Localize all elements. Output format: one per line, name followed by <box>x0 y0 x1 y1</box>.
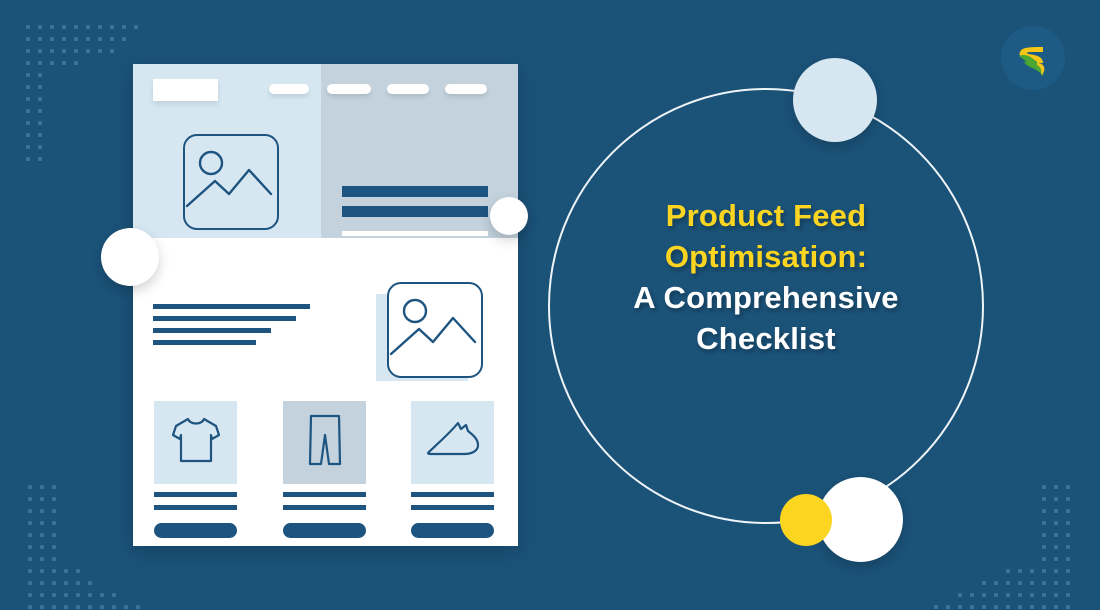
decor-dot <box>1042 521 1046 525</box>
decor-dot <box>40 593 44 597</box>
decor-dot <box>100 593 104 597</box>
decor-dot <box>76 593 80 597</box>
decor-dot <box>52 593 56 597</box>
product-image-tile <box>411 401 494 484</box>
decor-dot <box>88 593 92 597</box>
decor-dot <box>28 581 32 585</box>
decor-dot <box>74 61 78 65</box>
title-line-1: Product Feed <box>566 196 966 237</box>
decor-dot <box>76 605 80 609</box>
decor-dot <box>40 545 44 549</box>
product-image-tile <box>283 401 366 484</box>
decor-dot <box>112 593 116 597</box>
decor-circle-right <box>490 197 528 235</box>
decor-dot <box>50 25 54 29</box>
decor-dot <box>1066 485 1070 489</box>
decor-dot <box>994 605 998 609</box>
decor-dot <box>110 25 114 29</box>
nav-item-4[interactable] <box>445 84 487 94</box>
product-text-line-1 <box>411 492 494 497</box>
decor-dot <box>26 73 30 77</box>
decor-dot <box>1054 569 1058 573</box>
decor-dot <box>38 109 42 113</box>
decor-dot <box>52 521 56 525</box>
decor-dot <box>26 157 30 161</box>
decor-dot <box>50 37 54 41</box>
decor-dot <box>26 49 30 53</box>
decor-dot <box>1042 497 1046 501</box>
decor-dot <box>40 605 44 609</box>
decor-circle-left <box>101 228 159 286</box>
decor-dot <box>1054 557 1058 561</box>
decor-dot <box>26 109 30 113</box>
decor-dot <box>28 521 32 525</box>
decor-dot <box>1054 521 1058 525</box>
decor-dot <box>98 49 102 53</box>
decor-dot <box>38 97 42 101</box>
pants-icon <box>294 409 356 476</box>
buy-button[interactable] <box>154 523 237 538</box>
decor-dot <box>1006 593 1010 597</box>
decor-dot <box>98 37 102 41</box>
decor-dot <box>1042 545 1046 549</box>
content-text-line-1 <box>153 304 310 309</box>
hero-body-line-1 <box>342 231 488 236</box>
decor-dot <box>1066 581 1070 585</box>
decor-dot <box>88 605 92 609</box>
decor-dot <box>86 37 90 41</box>
decor-dot <box>38 61 42 65</box>
decor-dot <box>1054 593 1058 597</box>
decor-dot <box>112 605 116 609</box>
decor-dot <box>934 605 938 609</box>
decor-dot <box>28 605 32 609</box>
decor-dot <box>40 557 44 561</box>
decor-dot <box>28 557 32 561</box>
decor-dot <box>994 593 998 597</box>
decor-dot <box>110 49 114 53</box>
decor-dot <box>26 25 30 29</box>
decor-dot <box>982 605 986 609</box>
decor-dot <box>52 485 56 489</box>
decor-dot <box>64 569 68 573</box>
decor-dot <box>38 25 42 29</box>
decor-dot <box>1054 581 1058 585</box>
decor-dot <box>28 509 32 513</box>
decor-dot <box>62 37 66 41</box>
decor-dot <box>1066 509 1070 513</box>
decor-dot <box>86 49 90 53</box>
decor-dot <box>1030 569 1034 573</box>
decor-dot <box>38 145 42 149</box>
decor-dot <box>28 533 32 537</box>
decor-dot <box>76 581 80 585</box>
decor-dot <box>994 581 998 585</box>
mockup-product-grid <box>133 381 518 546</box>
decor-dot <box>38 157 42 161</box>
decor-dot <box>1066 557 1070 561</box>
decor-dot <box>40 569 44 573</box>
hero-heading-bar-1 <box>342 186 488 197</box>
decor-dot <box>1018 581 1022 585</box>
product-text-line-2 <box>283 505 366 510</box>
decor-dot <box>124 605 128 609</box>
decor-dot <box>52 497 56 501</box>
decor-dot <box>970 593 974 597</box>
decor-dot <box>26 61 30 65</box>
buy-button[interactable] <box>411 523 494 538</box>
decor-dot <box>1054 545 1058 549</box>
decor-dot <box>958 593 962 597</box>
decor-dot <box>38 121 42 125</box>
decor-dot <box>1054 533 1058 537</box>
hero-heading-bar-2 <box>342 206 488 217</box>
decor-dot <box>26 97 30 101</box>
decor-dot <box>26 133 30 137</box>
decor-dot <box>136 605 140 609</box>
decor-dot <box>1018 605 1022 609</box>
decor-dot <box>64 581 68 585</box>
decor-dot <box>28 569 32 573</box>
decor-dot <box>1006 581 1010 585</box>
decor-dot <box>52 533 56 537</box>
title-line-2: Optimisation: <box>566 237 966 278</box>
product-text-line-2 <box>154 505 237 510</box>
decor-dot <box>28 593 32 597</box>
decor-dot <box>52 509 56 513</box>
decor-dot <box>28 545 32 549</box>
decor-dot <box>982 581 986 585</box>
decor-dot <box>28 485 32 489</box>
page-title: Product Feed Optimisation: A Comprehensi… <box>566 196 966 360</box>
banner-canvas: Product Feed Optimisation: A Comprehensi… <box>0 0 1100 610</box>
decor-dot <box>134 25 138 29</box>
decor-dot <box>122 37 126 41</box>
decor-dot <box>26 37 30 41</box>
mockup-content-section <box>133 238 518 381</box>
decor-dot <box>98 25 102 29</box>
decor-dot <box>1054 605 1058 609</box>
decor-dot <box>26 145 30 149</box>
decor-dot <box>970 605 974 609</box>
leaf-s-icon <box>1010 35 1056 81</box>
product-image-tile <box>154 401 237 484</box>
nav-item-3[interactable] <box>387 84 429 94</box>
product-card-trousers[interactable] <box>283 401 366 538</box>
product-card-tshirt[interactable] <box>154 401 237 538</box>
product-text-line-1 <box>283 492 366 497</box>
decor-dot <box>982 593 986 597</box>
title-line-3: A Comprehensive <box>566 278 966 319</box>
decor-dot <box>38 73 42 77</box>
tshirt-icon <box>165 409 227 476</box>
decor-dot <box>74 25 78 29</box>
decor-dot <box>1066 593 1070 597</box>
mockup-hero-section <box>133 64 518 238</box>
website-mockup <box>133 64 518 546</box>
decor-dot <box>40 533 44 537</box>
decor-dot <box>52 569 56 573</box>
decor-dot <box>40 581 44 585</box>
decor-dot <box>122 25 126 29</box>
decor-dot <box>1006 569 1010 573</box>
decor-dot <box>76 569 80 573</box>
decor-dot <box>40 521 44 525</box>
decor-dot <box>26 121 30 125</box>
decor-dot <box>1018 569 1022 573</box>
decor-dot <box>40 509 44 513</box>
decor-dot <box>1030 593 1034 597</box>
decor-dot <box>1054 485 1058 489</box>
decor-dot <box>100 605 104 609</box>
product-card-sneaker[interactable] <box>411 401 494 538</box>
buy-button[interactable] <box>283 523 366 538</box>
decor-dot <box>52 605 56 609</box>
decor-dot <box>1066 521 1070 525</box>
decor-dot <box>1042 485 1046 489</box>
decor-dot <box>52 545 56 549</box>
decor-dot <box>1042 557 1046 561</box>
decor-dot <box>1042 605 1046 609</box>
decor-dot <box>38 85 42 89</box>
title-line-4: Checklist <box>566 319 966 360</box>
decor-dot <box>1054 497 1058 501</box>
decor-dot <box>1066 497 1070 501</box>
decor-dot <box>1030 581 1034 585</box>
product-text-line-2 <box>411 505 494 510</box>
decor-dot <box>1066 545 1070 549</box>
decor-dot <box>28 497 32 501</box>
decor-dot <box>86 25 90 29</box>
decor-dot <box>1030 605 1034 609</box>
decor-dot <box>1042 593 1046 597</box>
decor-dot <box>52 581 56 585</box>
decor-dot <box>40 485 44 489</box>
decor-dot <box>26 85 30 89</box>
decor-dot <box>64 605 68 609</box>
decor-dot <box>1042 533 1046 537</box>
decor-dot <box>62 61 66 65</box>
site-logo-placeholder <box>153 79 218 101</box>
decor-dot <box>1042 581 1046 585</box>
decor-dot <box>1066 533 1070 537</box>
decor-dot <box>64 593 68 597</box>
content-text-line-4 <box>153 340 256 345</box>
decor-dot <box>38 49 42 53</box>
decor-circle-ring-top <box>793 58 877 142</box>
company-leaf-s-logo[interactable] <box>1001 26 1065 90</box>
decor-dot <box>946 605 950 609</box>
decor-dot <box>52 557 56 561</box>
decor-dot <box>1042 569 1046 573</box>
decor-dot <box>38 133 42 137</box>
hero-image-placeholder <box>183 134 279 230</box>
decor-dot <box>74 37 78 41</box>
product-text-line-1 <box>154 492 237 497</box>
decor-dot <box>40 497 44 501</box>
decor-dot <box>1066 569 1070 573</box>
decor-dot <box>50 49 54 53</box>
decor-dot <box>1042 509 1046 513</box>
decor-dot <box>88 581 92 585</box>
decor-dot <box>1018 593 1022 597</box>
decor-dot <box>1006 605 1010 609</box>
decor-dot <box>958 605 962 609</box>
content-text-line-3 <box>153 328 271 333</box>
decor-dot <box>1054 509 1058 513</box>
decor-dot <box>50 61 54 65</box>
shoe-icon <box>422 409 484 476</box>
decor-dot <box>1066 605 1070 609</box>
decor-dot <box>74 49 78 53</box>
content-image-placeholder <box>387 282 483 378</box>
decor-dot <box>62 49 66 53</box>
decor-dot <box>38 37 42 41</box>
nav-item-1[interactable] <box>269 84 309 94</box>
decor-dot <box>110 37 114 41</box>
decor-circle-ring-bottom-yellow <box>780 494 832 546</box>
decor-dot <box>62 25 66 29</box>
nav-item-2[interactable] <box>327 84 371 94</box>
content-text-line-2 <box>153 316 296 321</box>
